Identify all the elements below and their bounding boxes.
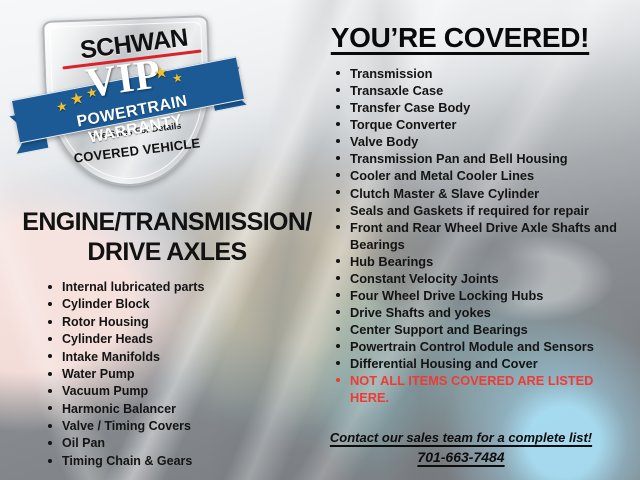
list-item: Harmonic Balancer — [48, 401, 318, 418]
list-item: Intake Manifolds — [48, 349, 318, 366]
star-icon-5: ★ — [171, 71, 184, 85]
engine-transmission-heading: ENGINE/TRANSMISSION/ DRIVE AXLES — [8, 208, 326, 267]
covered-parts-list: TransmissionTransaxle CaseTransfer Case … — [336, 65, 618, 407]
list-item: Internal lubricated parts — [48, 279, 318, 296]
list-item: Center Support and Bearings — [336, 321, 618, 338]
star-icon-4: ★ — [153, 65, 170, 83]
list-item: Timing Chain & Gears — [48, 453, 318, 470]
list-item: Cooler and Metal Cooler Lines — [336, 167, 618, 184]
list-item: Valve / Timing Covers — [48, 418, 318, 435]
star-icon-1: ★ — [55, 99, 69, 114]
list-item: Differential Housing and Cover — [336, 355, 618, 372]
covered-heading: YOU’RE COVERED! — [310, 22, 610, 54]
list-item: Transaxle Case — [336, 82, 618, 99]
list-item: Four Wheel Drive Locking Hubs — [336, 287, 618, 304]
list-item: Clutch Master & Slave Cylinder — [336, 185, 618, 202]
list-item: NOT ALL ITEMS COVERED ARE LISTED HERE. — [336, 372, 618, 406]
warranty-poster: SCHWAN VIP ★ ★ ★ ★ ★ POWERTRAIN WARRANTY… — [0, 0, 640, 480]
list-item: Cylinder Block — [48, 296, 318, 313]
list-item: Drive Shafts and yokes — [336, 304, 618, 321]
list-item: Vacuum Pump — [48, 383, 318, 400]
list-item: Front and Rear Wheel Drive Axle Shafts a… — [336, 219, 618, 253]
list-item: Transmission — [336, 65, 618, 82]
star-icon-3: ★ — [85, 85, 99, 100]
list-item: Powertrain Control Module and Sensors — [336, 338, 618, 355]
list-item: Seals and Gaskets if required for repair — [336, 202, 618, 219]
engine-parts-list: Internal lubricated partsCylinder BlockR… — [48, 279, 318, 470]
list-item: Valve Body — [336, 133, 618, 150]
contact-phone-number[interactable]: 701-663-7484 — [306, 449, 616, 465]
list-item: Torque Converter — [336, 116, 618, 133]
list-item: Transfer Case Body — [336, 99, 618, 116]
contact-sales-text: Contact our sales team for a complete li… — [306, 430, 616, 445]
list-item: Hub Bearings — [336, 253, 618, 270]
list-item: Cylinder Heads — [48, 331, 318, 348]
list-item: Rotor Housing — [48, 314, 318, 331]
list-item: Oil Pan — [48, 435, 318, 452]
star-icon-2: ★ — [69, 91, 86, 109]
list-item: Water Pump — [48, 366, 318, 383]
vip-warranty-badge: SCHWAN VIP ★ ★ ★ ★ ★ POWERTRAIN WARRANTY… — [12, 8, 244, 198]
list-item: Constant Velocity Joints — [336, 270, 618, 287]
list-item: Transmission Pan and Bell Housing — [336, 150, 618, 167]
